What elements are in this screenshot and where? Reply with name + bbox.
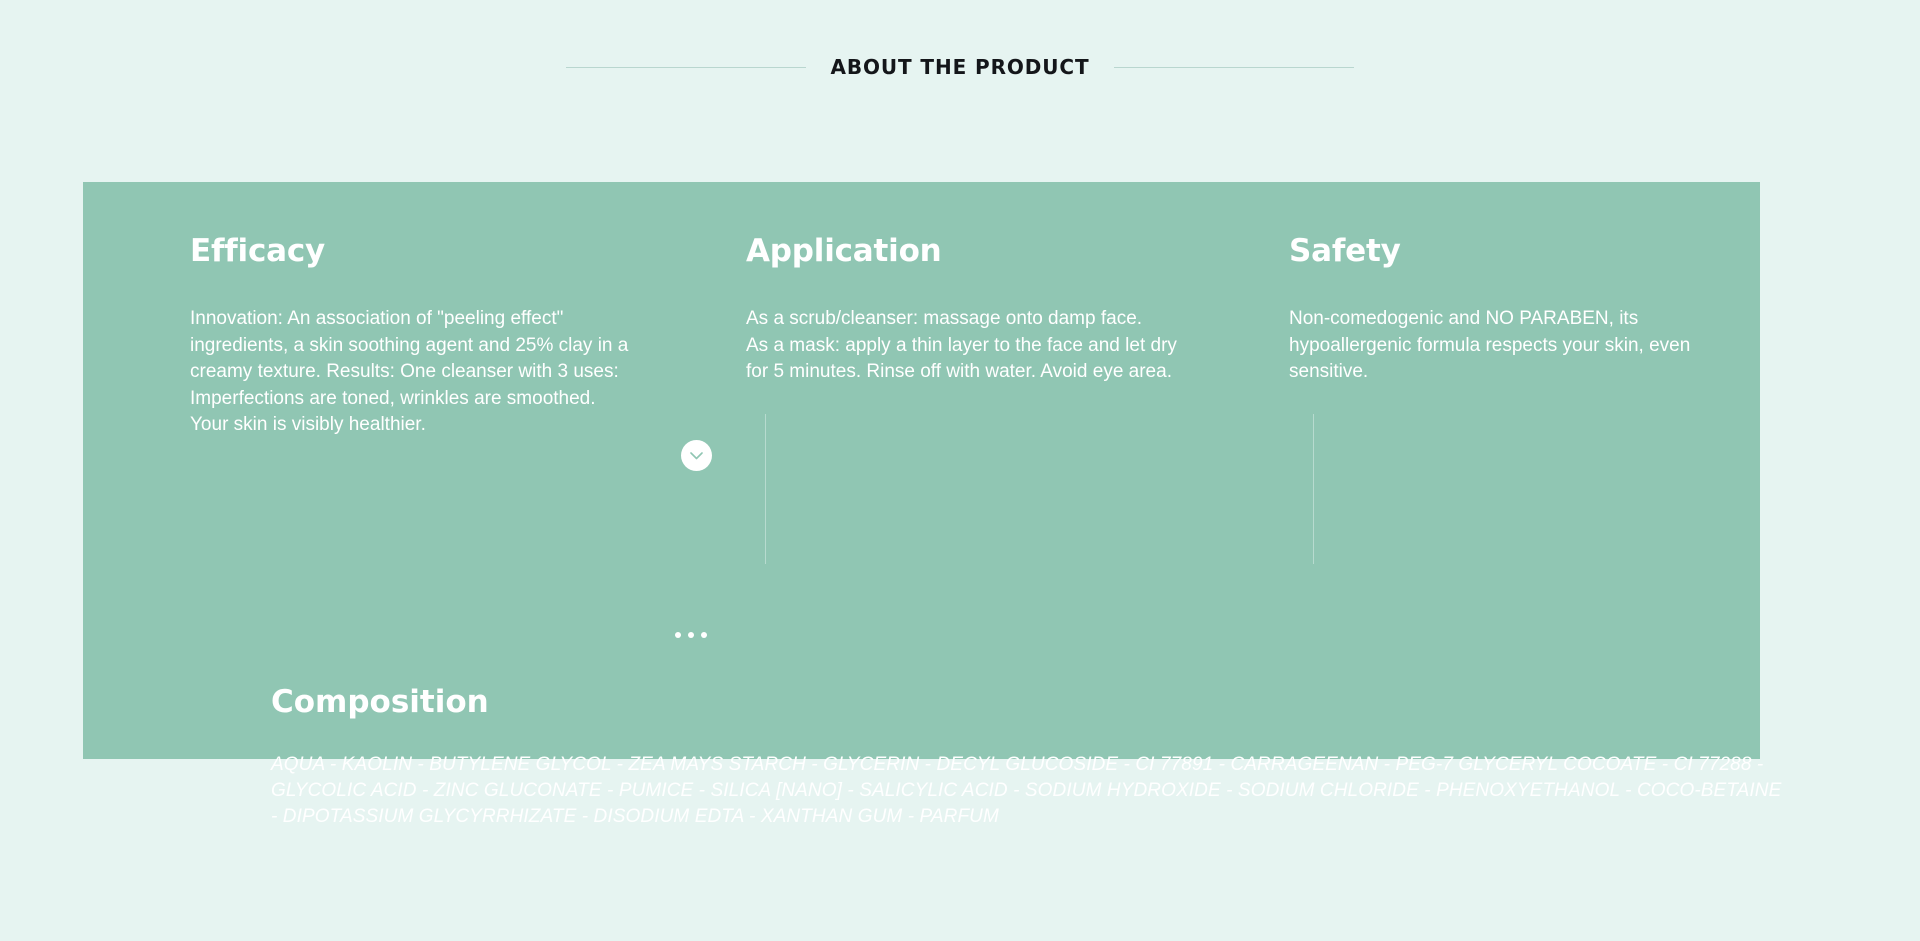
composition-section: Composition AQUA - KAOLIN - BUTYLENE GLY… (271, 684, 1791, 830)
composition-ingredients: AQUA - KAOLIN - BUTYLENE GLYCOL - ZEA MA… (271, 752, 1791, 830)
column-safety: Safety Non-comedogenic and NO PARABEN, i… (1226, 234, 1760, 439)
section-heading: ABOUT THE PRODUCT (0, 55, 1920, 79)
column-title-safety: Safety (1289, 234, 1720, 268)
ellipsis-icon[interactable] (675, 632, 707, 638)
heading-rule-right (1114, 67, 1354, 68)
column-title-application: Application (746, 234, 1186, 268)
ellipsis-dot (701, 632, 707, 638)
column-body-application: As a scrub/cleanser: massage onto damp f… (746, 306, 1186, 386)
heading-rule-left (566, 67, 806, 68)
column-efficacy: Efficacy Innovation: An association of "… (83, 234, 681, 439)
column-application: Application As a scrub/cleanser: massage… (681, 234, 1226, 439)
panel-columns: Efficacy Innovation: An association of "… (83, 182, 1760, 439)
chevron-down-icon (690, 452, 703, 460)
about-panel: Efficacy Innovation: An association of "… (83, 182, 1760, 759)
expand-efficacy-button[interactable] (681, 440, 712, 471)
composition-title: Composition (271, 684, 1791, 720)
product-about-page: ABOUT THE PRODUCT Efficacy Innovation: A… (0, 0, 1920, 941)
ellipsis-dot (675, 632, 681, 638)
page-title: ABOUT THE PRODUCT (830, 55, 1089, 79)
column-title-efficacy: Efficacy (190, 234, 641, 268)
column-body-efficacy: Innovation: An association of "peeling e… (190, 306, 641, 439)
ellipsis-dot (688, 632, 694, 638)
column-body-safety: Non-comedogenic and NO PARABEN, its hypo… (1289, 306, 1720, 386)
